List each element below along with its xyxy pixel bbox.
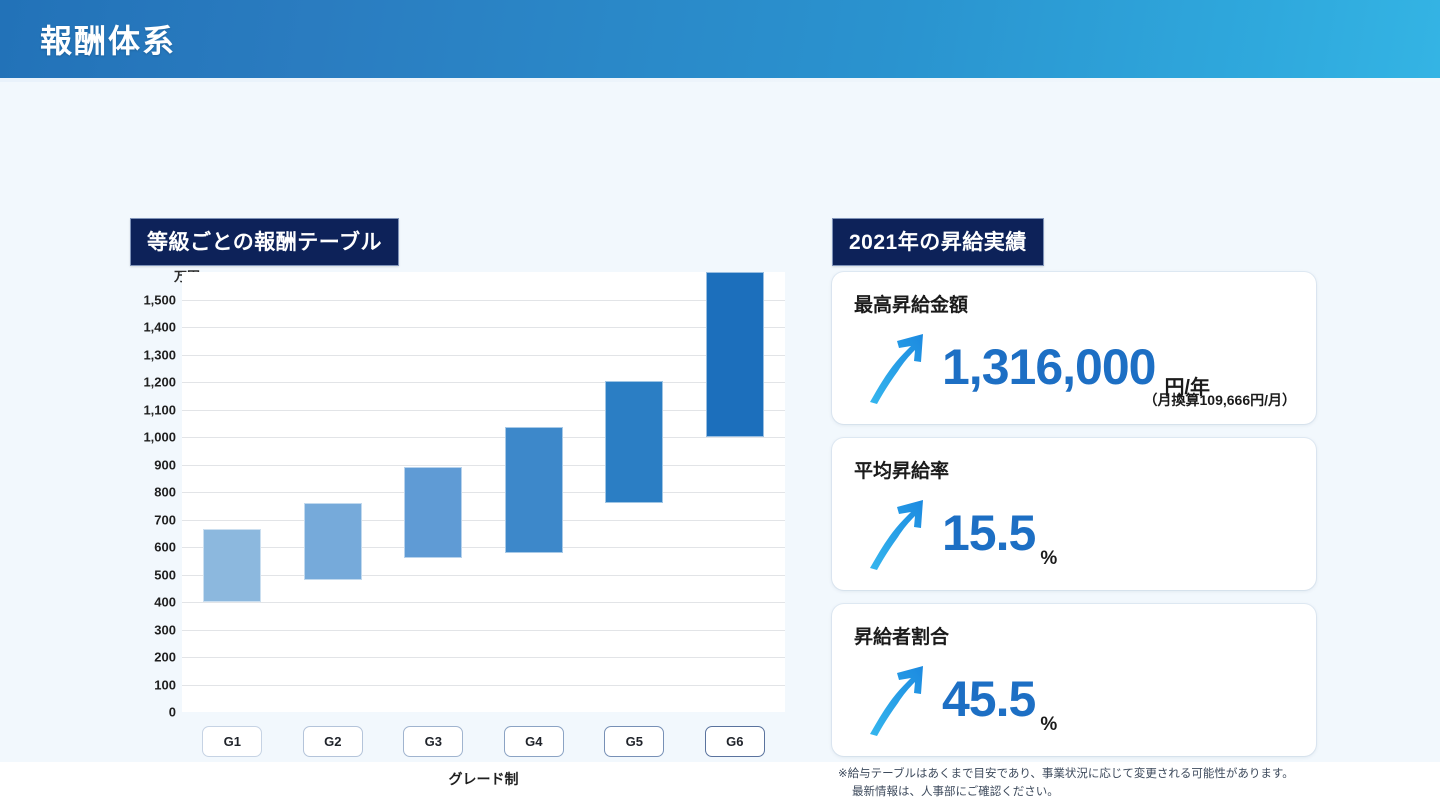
y-axis-tick-label: 700 <box>124 512 176 527</box>
page-header: 報酬体系 <box>0 0 1440 78</box>
kpi-card: 最高昇給金額1,316,000円/年（月換算109,666円/月） <box>832 272 1316 424</box>
kpi-card-unit: % <box>1040 714 1057 736</box>
gridline <box>182 520 785 521</box>
kpi-card-title: 平均昇給率 <box>854 456 949 483</box>
gridline <box>182 355 785 356</box>
y-axis-tick-label: 500 <box>124 567 176 582</box>
trend-up-arrow-icon <box>866 662 932 736</box>
y-axis-tick-label: 0 <box>124 705 176 720</box>
kpi-card-unit: % <box>1040 548 1057 570</box>
content-stage: 等級ごとの報酬テーブル 万円 1,5001,4001,3001,2001,100… <box>0 82 1440 762</box>
kpi-card: 平均昇給率15.5% <box>832 438 1316 590</box>
page-title: 報酬体系 <box>40 16 176 62</box>
bar-highlight <box>404 467 462 558</box>
chart-bar-g2[interactable] <box>304 503 362 580</box>
footnote-line-1: ※給与テーブルはあくまで目安であり、事業状況に応じて変更される可能性があります。 <box>838 768 1294 780</box>
kpi-card-title: 昇給者割合 <box>854 622 949 649</box>
gridline <box>182 382 785 383</box>
footnote: ※給与テーブルはあくまで目安であり、事業状況に応じて変更される可能性があります。… <box>838 766 1328 802</box>
gridline <box>182 547 785 548</box>
kpi-card-title: 最高昇給金額 <box>854 290 968 317</box>
bar-highlight <box>505 427 563 552</box>
grade-chip-g5[interactable]: G5 <box>604 726 664 757</box>
y-axis-tick-label: 1,100 <box>124 402 176 417</box>
chart-bar-g1[interactable] <box>203 529 261 602</box>
bar-highlight <box>706 272 764 437</box>
y-axis-tick-label: 100 <box>124 677 176 692</box>
y-axis-tick-label: 1,500 <box>124 292 176 307</box>
kpi-card: 昇給者割合45.5% <box>832 604 1316 756</box>
y-axis-tick-label: 1,300 <box>124 347 176 362</box>
trend-up-arrow-icon <box>866 496 932 570</box>
y-axis-tick-label: 600 <box>124 540 176 555</box>
footnote-line-2: 最新情報は、人事部にご確認ください。 <box>838 784 1328 802</box>
x-axis-label: グレード制 <box>182 769 785 789</box>
trend-up-arrow-icon <box>866 330 932 404</box>
chart-bar-g6[interactable] <box>706 272 764 437</box>
y-axis-tick-label: 1,400 <box>124 320 176 335</box>
kpi-card-body: 15.5% <box>854 490 1298 576</box>
gridline <box>182 630 785 631</box>
kpi-card-value: 1,316,000 <box>942 342 1155 392</box>
kpi-card-value: 45.5 <box>942 674 1035 724</box>
y-axis-tick-label: 300 <box>124 622 176 637</box>
gridline <box>182 575 785 576</box>
grade-chip-g3[interactable]: G3 <box>403 726 463 757</box>
y-axis-tick-label: 1,000 <box>124 430 176 445</box>
gridline <box>182 437 785 438</box>
chart-bar-g3[interactable] <box>404 467 462 558</box>
gridline <box>182 410 785 411</box>
y-axis-tick-label: 800 <box>124 485 176 500</box>
grade-chip-g6[interactable]: G6 <box>705 726 765 757</box>
chart-plot-area: 1,5001,4001,3001,2001,1001,0009008007006… <box>182 272 785 712</box>
gridline <box>182 657 785 658</box>
y-axis-tick-label: 900 <box>124 457 176 472</box>
gridline <box>182 300 785 301</box>
y-axis-tick-label: 200 <box>124 650 176 665</box>
gridline <box>182 327 785 328</box>
chart-bar-g4[interactable] <box>505 427 563 552</box>
bar-highlight <box>304 503 362 580</box>
grade-chip-g2[interactable]: G2 <box>303 726 363 757</box>
kpi-card-value: 15.5 <box>942 508 1035 558</box>
y-axis-tick-label: 1,200 <box>124 375 176 390</box>
grade-chip-g1[interactable]: G1 <box>202 726 262 757</box>
gridline <box>182 602 785 603</box>
kpi-card-body: 45.5% <box>854 656 1298 742</box>
bar-highlight <box>605 381 663 503</box>
bar-highlight <box>203 529 261 602</box>
grade-chip-row[interactable]: G1G2G3G4G5G6 <box>182 726 785 758</box>
compensation-table-chart: 万円 1,5001,4001,3001,2001,1001,0009008007… <box>130 264 800 804</box>
y-axis-tick-label: 400 <box>124 595 176 610</box>
kpi-card-subtext: （月換算109,666円/月） <box>1144 390 1297 410</box>
gridline <box>182 685 785 686</box>
grade-chip-g4[interactable]: G4 <box>504 726 564 757</box>
gridline <box>182 492 785 493</box>
slide-root: 報酬体系 等級ごとの報酬テーブル 万円 1,5001,4001,3001,200… <box>0 0 1440 762</box>
chart-bar-g5[interactable] <box>605 381 663 503</box>
gridline <box>182 465 785 466</box>
results-section-badge: 2021年の昇給実績 <box>832 218 1044 266</box>
chart-section-badge: 等級ごとの報酬テーブル <box>130 218 399 266</box>
